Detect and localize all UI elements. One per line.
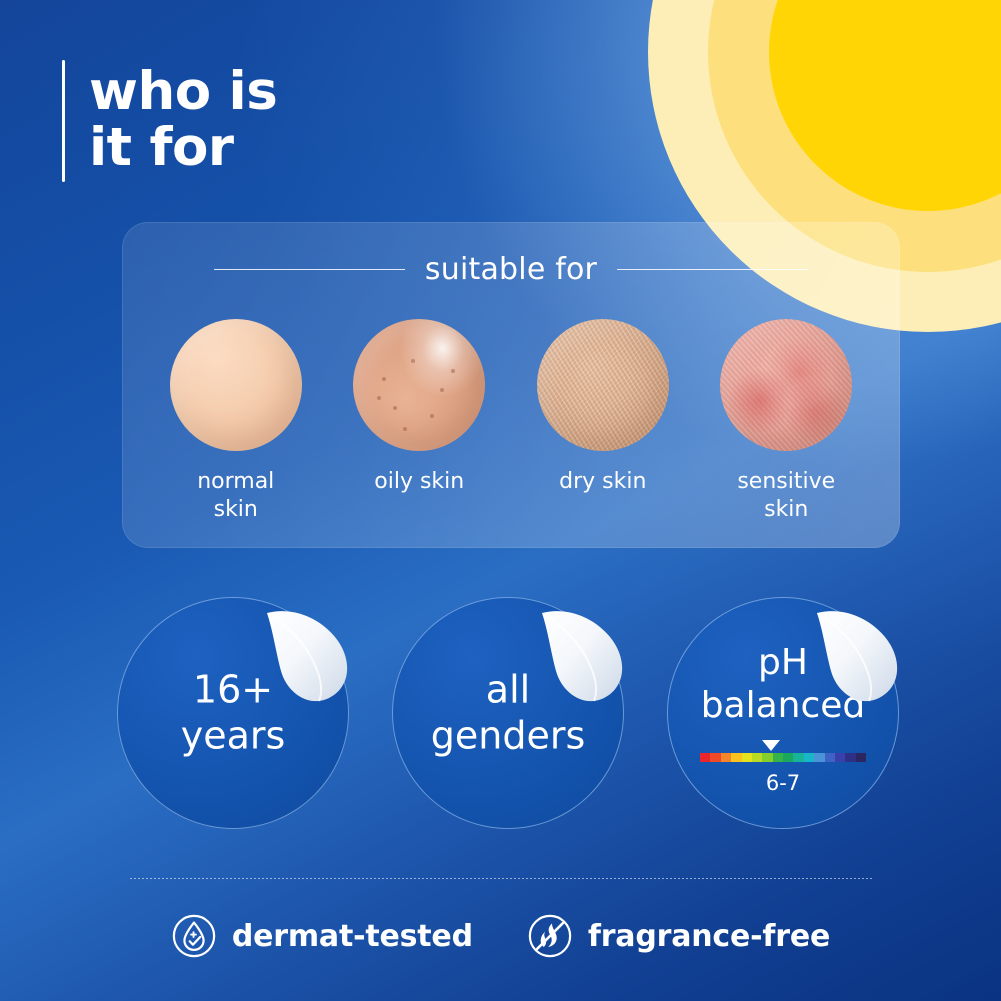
feature-circle-list: 16+ years all genders p bbox=[0, 597, 1001, 829]
card-title-rule-left bbox=[214, 269, 405, 270]
ph-circle-label: pH balanced bbox=[667, 641, 899, 727]
skin-type-normal: normal skin bbox=[153, 319, 318, 523]
card-title-rule-right bbox=[617, 269, 808, 270]
sensitive-skin-swatch bbox=[720, 319, 852, 451]
badge-label: fragrance-free bbox=[588, 919, 830, 954]
oily-skin-pores bbox=[353, 319, 485, 451]
badge-fragrance-free: fragrance-free bbox=[527, 913, 830, 959]
card-title-row: suitable for bbox=[214, 252, 808, 287]
title-accent-rule bbox=[62, 60, 65, 182]
title-line-1: who is bbox=[89, 64, 277, 120]
badge-label: dermat-tested bbox=[232, 919, 473, 954]
age-circle-label: 16+ years bbox=[117, 667, 349, 758]
skin-type-oily: oily skin bbox=[337, 319, 502, 523]
age-circle: 16+ years bbox=[117, 597, 349, 829]
claims-badge-list: dermat-tested fragrance-free bbox=[0, 913, 1001, 959]
normal-skin-swatch bbox=[170, 319, 302, 451]
infographic-canvas: who is it for suitable for normal skin bbox=[0, 0, 1001, 1001]
page-title: who is it for bbox=[62, 60, 277, 182]
no-fragrance-icon bbox=[527, 913, 573, 959]
skin-type-label: sensitive skin bbox=[737, 468, 835, 523]
title-line-2: it for bbox=[89, 120, 277, 176]
gender-circle-label: all genders bbox=[392, 667, 624, 758]
ph-gradient-bar bbox=[700, 753, 866, 762]
skin-type-label: dry skin bbox=[559, 468, 646, 496]
badge-dermat-tested: dermat-tested bbox=[171, 913, 473, 959]
skin-type-list: normal skin oily skin dry skin bbox=[122, 319, 900, 523]
ph-circle: pH balanced 6-7 bbox=[667, 597, 899, 829]
title-text: who is it for bbox=[89, 60, 277, 182]
sun-core-icon bbox=[769, 0, 1001, 211]
droplet-check-icon bbox=[171, 913, 217, 959]
skin-type-label: normal skin bbox=[197, 468, 274, 523]
gender-circle: all genders bbox=[392, 597, 624, 829]
ph-range-label: 6-7 bbox=[700, 771, 866, 795]
card-title: suitable for bbox=[425, 252, 597, 287]
skin-type-dry: dry skin bbox=[520, 319, 685, 523]
suitable-for-card: suitable for normal skin oily skin bbox=[122, 222, 900, 548]
ph-marker-icon bbox=[762, 740, 780, 751]
dry-skin-swatch bbox=[537, 319, 669, 451]
section-divider bbox=[130, 878, 872, 879]
skin-type-label: oily skin bbox=[374, 468, 464, 496]
skin-type-sensitive: sensitive skin bbox=[704, 319, 869, 523]
oily-skin-swatch bbox=[353, 319, 485, 451]
ph-scale: 6-7 bbox=[700, 753, 866, 795]
